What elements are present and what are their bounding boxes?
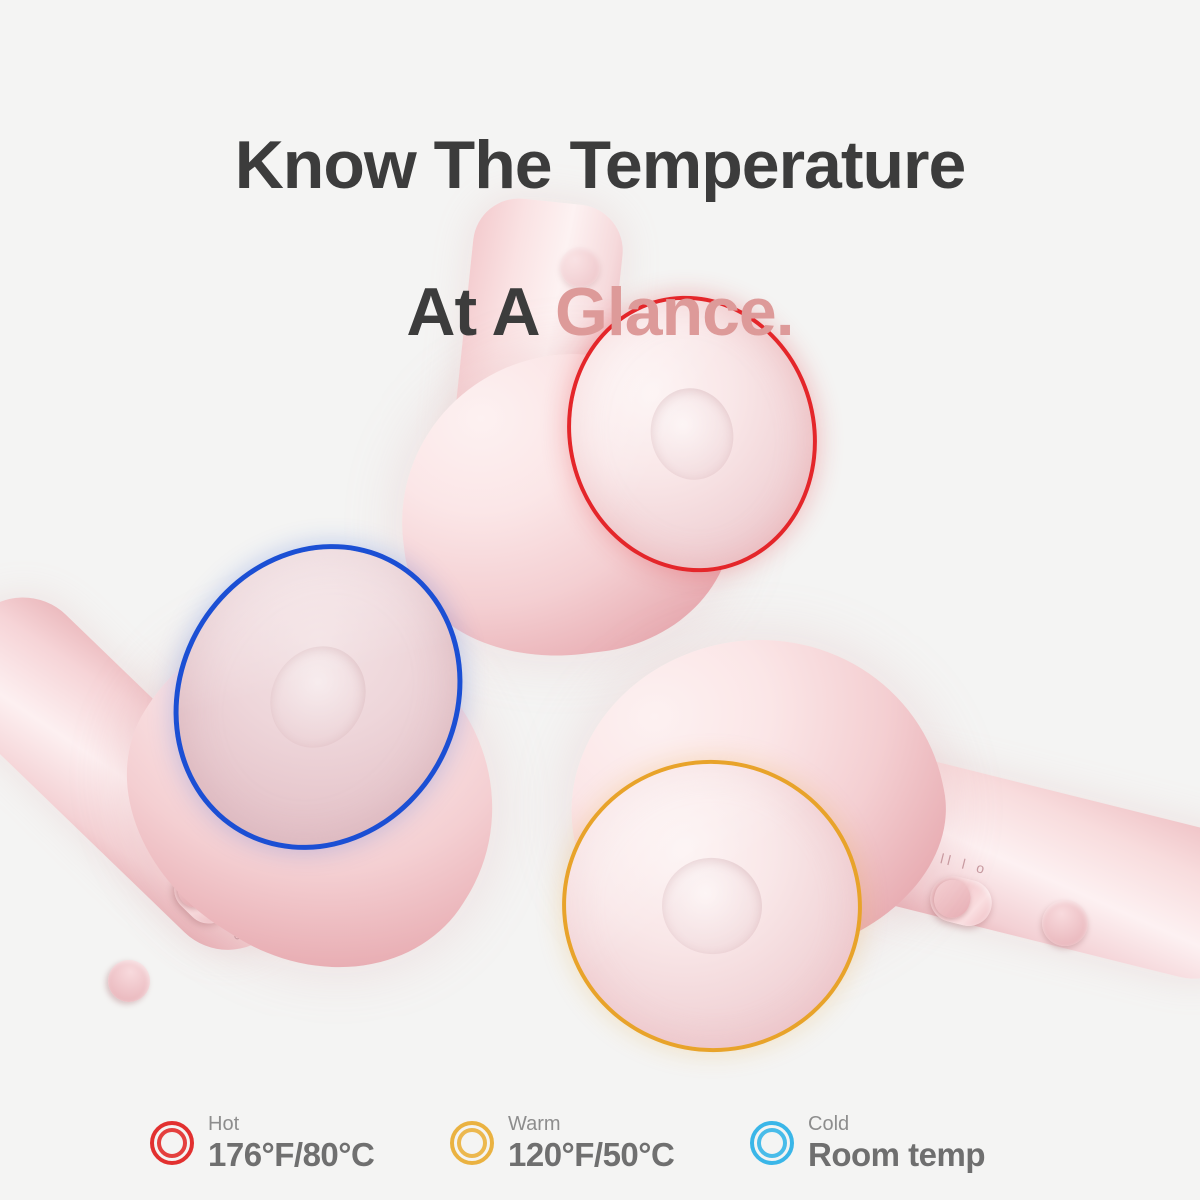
cool-shot-button-cold[interactable] (99, 951, 158, 1010)
page-title-line2-plain: At A (406, 274, 555, 350)
product-marketing-image: Know The Temperature At A Glance. ll l o (0, 0, 1200, 1200)
temperature-ring-icon-warm (450, 1121, 494, 1165)
legend-value-warm: 120°F/50°C (508, 1137, 674, 1174)
legend-label-hot: Hot (208, 1113, 374, 1135)
temperature-ring-icon-cold (750, 1121, 794, 1165)
legend-text-hot: Hot 176°F/80°C (208, 1113, 374, 1174)
legend-item-cold: Cold Room temp (750, 1113, 1050, 1174)
legend-text-warm: Warm 120°F/50°C (508, 1113, 674, 1174)
temperature-ring-icon-hot (150, 1121, 194, 1165)
legend-label-warm: Warm (508, 1113, 674, 1135)
legend-value-cold: Room temp (808, 1137, 985, 1174)
legend-label-cold: Cold (808, 1113, 985, 1135)
temperature-legend: Hot 176°F/80°C Warm 120°F/50°C Cold Room… (0, 1113, 1200, 1174)
legend-item-hot: Hot 176°F/80°C (150, 1113, 450, 1174)
page-title-accent: Glance. (555, 274, 794, 350)
dryer-unit-cold: ll l o (0, 520, 530, 1200)
legend-value-hot: 176°F/80°C (208, 1137, 374, 1174)
page-title: Know The Temperature At A Glance. (0, 56, 1200, 350)
page-title-line1: Know The Temperature (235, 127, 966, 203)
legend-text-cold: Cold Room temp (808, 1113, 985, 1174)
legend-item-warm: Warm 120°F/50°C (450, 1113, 750, 1174)
